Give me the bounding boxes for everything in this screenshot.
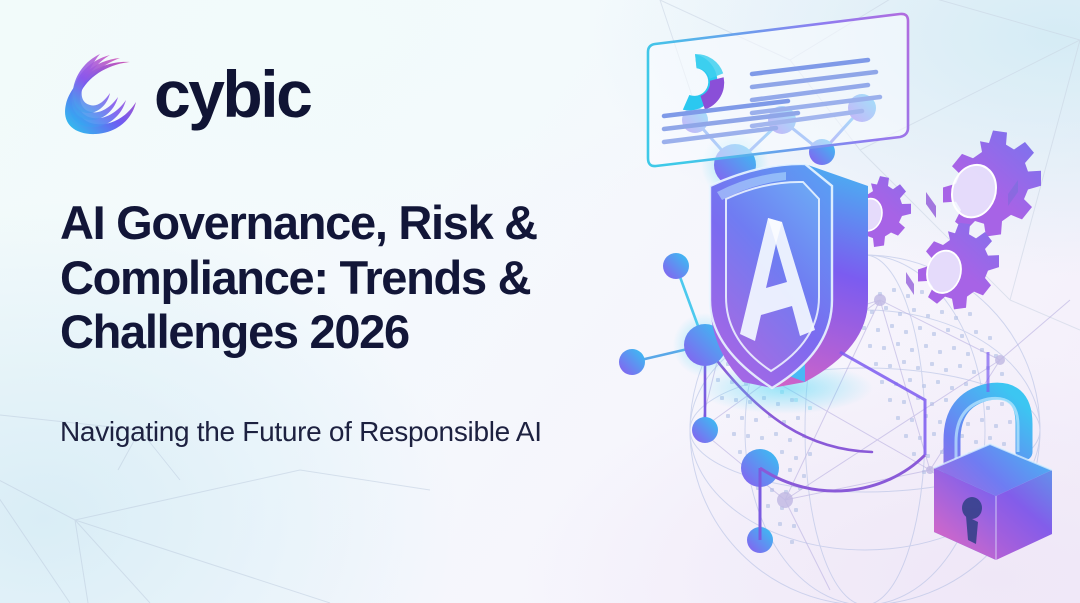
- gear-medium: [906, 217, 999, 314]
- gear-large: [926, 124, 1041, 243]
- report-card-icon: [648, 14, 908, 166]
- hero-banner: cybic AI Governance, Risk & Compliance: …: [0, 0, 1080, 603]
- brand-wordmark: cybic: [154, 61, 310, 127]
- headline-line-2: Compliance: Trends &: [60, 251, 530, 304]
- brand-logo[interactable]: cybic: [60, 52, 310, 136]
- padlock-icon: [934, 391, 1052, 560]
- ai-governance-illustration: [600, 0, 1080, 603]
- page-title: AI Governance, Risk & Compliance: Trends…: [60, 196, 690, 360]
- crescent-layers-logo-icon: [60, 52, 138, 136]
- shield-with-a-icon: [697, 164, 873, 414]
- gears-cluster-icon: [846, 124, 1041, 315]
- headline-line-3: Challenges 2026: [60, 305, 409, 358]
- headline-line-1: AI Governance, Risk &: [60, 196, 537, 249]
